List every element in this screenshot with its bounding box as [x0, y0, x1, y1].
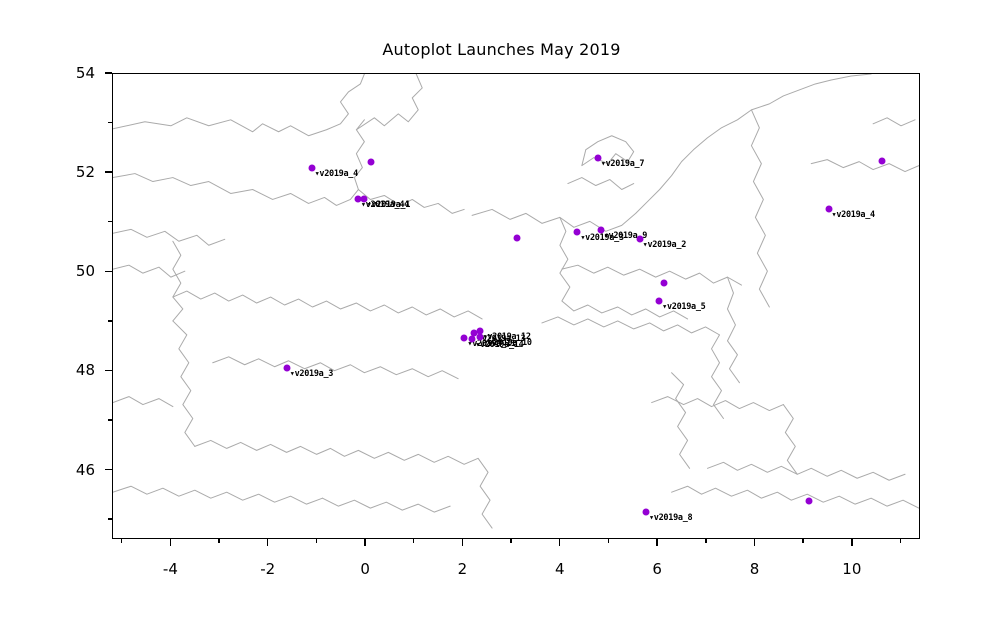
y-axis-tick-label: 54	[0, 64, 95, 82]
page-title: Autoplot Launches May 2019	[0, 40, 1003, 59]
x-axis-minor-tick	[608, 539, 609, 543]
x-axis-minor-tick	[705, 539, 706, 543]
y-axis-tick	[105, 271, 112, 272]
data-point-label: ▾v2019a_3	[290, 369, 333, 379]
data-point-label: ▾v2019a_4	[315, 169, 358, 179]
x-axis-tick-label: 4	[555, 560, 565, 578]
data-point-label: ▾v2019a_14	[475, 340, 523, 350]
data-point-label: ▾v2019a_2	[643, 240, 686, 250]
x-axis-tick-label: 0	[360, 560, 370, 578]
y-axis-tick	[105, 72, 112, 73]
figure-canvas: Autoplot Launches May 2019	[0, 0, 1003, 633]
x-axis-tick	[754, 539, 755, 546]
y-axis-minor-tick	[108, 221, 112, 222]
x-axis-tick-label: 6	[652, 560, 662, 578]
data-point-label: ▾v2019a_4	[832, 210, 875, 220]
x-axis-minor-tick	[121, 539, 122, 543]
y-axis-minor-tick	[108, 518, 112, 519]
x-axis-minor-tick	[413, 539, 414, 543]
x-axis-minor-tick	[510, 539, 511, 543]
data-point-label: ▾v2019a_7	[601, 159, 644, 169]
x-axis-tick-label: 2	[458, 560, 468, 578]
x-axis-tick-label: 8	[750, 560, 760, 578]
data-point-marker[interactable]	[367, 159, 374, 166]
data-point-label: ▾v2019a_1	[367, 200, 410, 210]
y-axis-minor-tick	[108, 122, 112, 123]
x-axis-tick	[559, 539, 560, 546]
scatter-plot-axes: ▾v2019a_4▾v2019a_44▾v2019a_1▾v2019a_3▾v2…	[112, 73, 920, 539]
y-axis-tick	[105, 370, 112, 371]
data-point-marker[interactable]	[879, 157, 886, 164]
y-axis-tick	[105, 171, 112, 172]
x-axis-tick	[462, 539, 463, 546]
x-axis-tick-label: -2	[260, 560, 275, 578]
y-axis-tick-label: 52	[0, 163, 95, 181]
y-axis-minor-tick	[108, 419, 112, 420]
x-axis-tick-label: -4	[163, 560, 178, 578]
x-axis-minor-tick	[802, 539, 803, 543]
x-axis-tick	[851, 539, 852, 546]
x-axis-tick	[364, 539, 365, 546]
x-axis-minor-tick	[218, 539, 219, 543]
y-axis-tick-label: 50	[0, 262, 95, 280]
data-point-marker[interactable]	[661, 280, 668, 287]
x-axis-tick	[170, 539, 171, 546]
x-axis-minor-tick	[900, 539, 901, 543]
data-point-label: ▾v2019a_8	[649, 513, 692, 523]
y-axis-minor-tick	[108, 320, 112, 321]
data-point-marker[interactable]	[806, 498, 813, 505]
y-axis-tick-label: 46	[0, 461, 95, 479]
y-axis-tick	[105, 469, 112, 470]
data-point-marker[interactable]	[514, 234, 521, 241]
y-axis-tick-label: 48	[0, 361, 95, 379]
x-axis-tick	[267, 539, 268, 546]
x-axis-tick	[656, 539, 657, 546]
x-axis-tick-label: 10	[842, 560, 861, 578]
x-axis-minor-tick	[316, 539, 317, 543]
data-point-label: ▾v2019a_5	[662, 302, 705, 312]
basemap-coastlines	[113, 74, 919, 538]
